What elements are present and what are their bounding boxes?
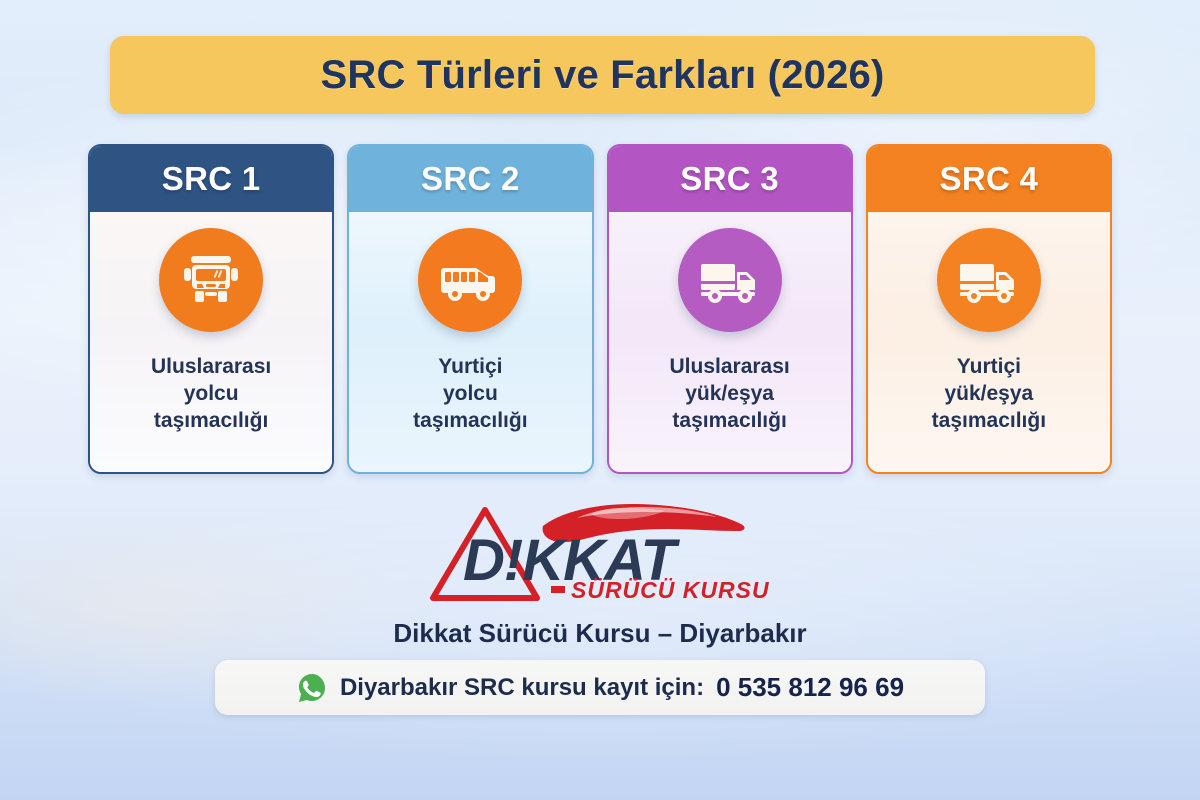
src-card-4-badge: SRC 4	[940, 160, 1039, 198]
truck-icon	[937, 228, 1041, 332]
title-banner: SRC Türleri ve Farkları (2026)	[110, 36, 1095, 114]
src-card-1-caption: Uluslararası yolcu taşımacılığı	[145, 354, 277, 435]
contact-bar[interactable]: Diyarbakır SRC kursu kayıt için: 0 535 8…	[215, 660, 985, 715]
minibus-icon	[418, 228, 522, 332]
src-card-1-badge: SRC 1	[162, 160, 261, 198]
src-card-3[interactable]: SRC 3	[607, 144, 853, 474]
src-card-2-caption: Yurtiçi yolcu taşımacılığı	[407, 354, 533, 435]
src-card-4-caption: Yurtiçi yük/eşya taşımacılığı	[926, 354, 1052, 435]
bus-icon	[159, 228, 263, 332]
src-card-3-badge: SRC 3	[680, 160, 779, 198]
src-card-4-body: Yurtiçi yük/eşya taşımacılığı	[868, 212, 1110, 472]
src-card-3-body: Uluslararası yük/eşya taşımacılığı	[609, 212, 851, 472]
src-card-1-header: SRC 1	[90, 146, 332, 212]
logo-subtitle: SÜRÜCÜ KURSU	[571, 577, 770, 603]
src-card-1-body: Uluslararası yolcu taşımacılığı	[90, 212, 332, 472]
src-card-2-badge: SRC 2	[421, 160, 520, 198]
page-title: SRC Türleri ve Farkları (2026)	[320, 53, 884, 98]
truck-icon	[678, 228, 782, 332]
src-card-grid: SRC 1	[88, 144, 1112, 474]
logo: D!KKAT SÜRÜCÜ KURSU	[0, 494, 1200, 614]
src-card-2-header: SRC 2	[349, 146, 591, 212]
brand-line: Dikkat Sürücü Kursu – Diyarbakır	[0, 618, 1200, 649]
src-card-2-body: Yurtiçi yolcu taşımacılığı	[349, 212, 591, 472]
src-card-3-header: SRC 3	[609, 146, 851, 212]
src-card-3-caption: Uluslararası yük/eşya taşımacılığı	[664, 354, 796, 435]
src-card-4[interactable]: SRC 4	[866, 144, 1112, 474]
src-card-2[interactable]: SRC 2	[347, 144, 593, 474]
src-card-1[interactable]: SRC 1	[88, 144, 334, 474]
whatsapp-icon	[296, 672, 328, 704]
src-card-4-header: SRC 4	[868, 146, 1110, 212]
contact-label: Diyarbakır SRC kursu kayıt için:	[340, 674, 704, 702]
contact-phone[interactable]: 0 535 812 96 69	[716, 672, 904, 703]
